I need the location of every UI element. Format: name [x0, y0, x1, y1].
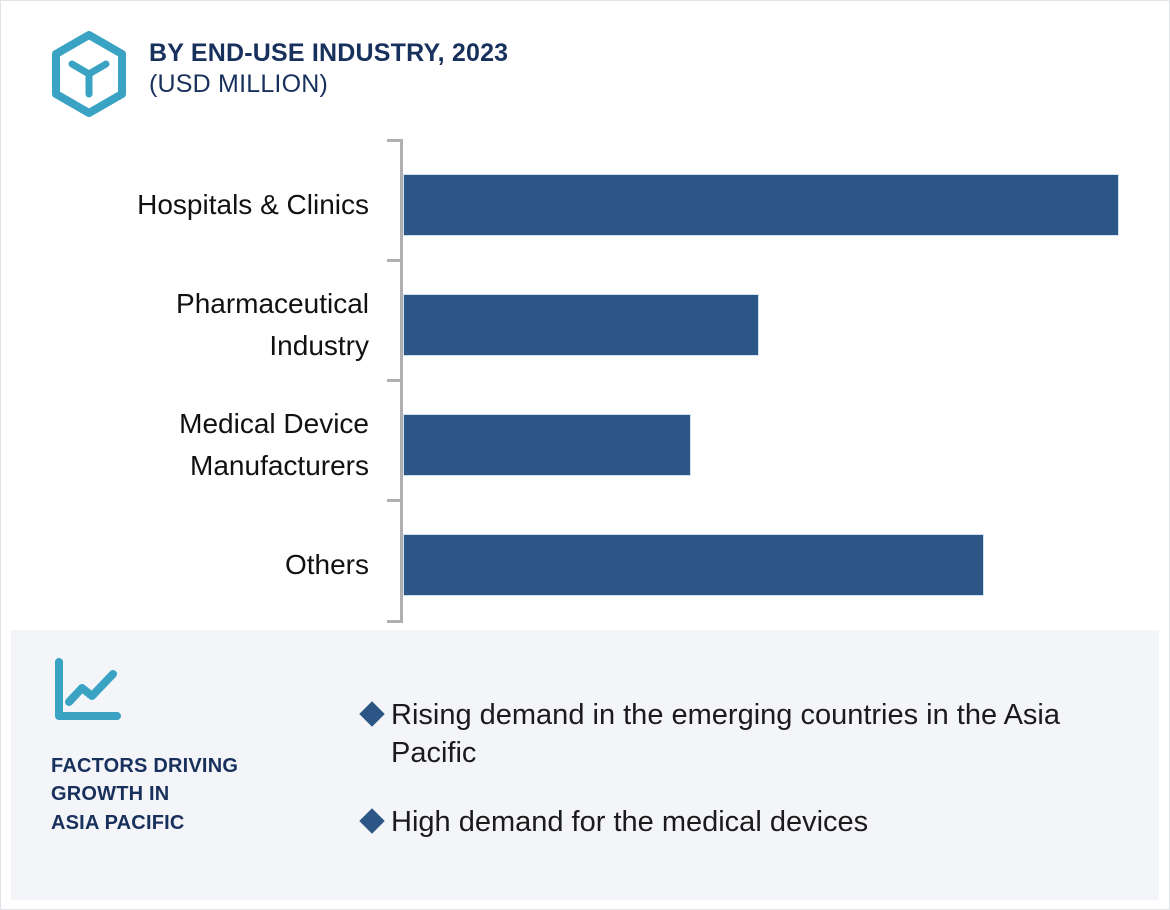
axis-tick: [387, 139, 401, 142]
diamond-bullet-icon: [359, 701, 384, 726]
category-label-line: Pharmaceutical: [176, 283, 369, 325]
page-subtitle: (USD MILLION): [149, 69, 508, 99]
axis-tick: [387, 259, 401, 262]
bar-chart: Hospitals & Clinics Pharmaceutical Indus…: [1, 139, 1170, 627]
page-title: BY END-USE INDUSTRY, 2023: [149, 39, 508, 67]
bar-fill: [403, 174, 1119, 236]
panel-heading-line: FACTORS DRIVING: [51, 752, 351, 780]
bar-fill: [403, 294, 759, 356]
category-label-line: Industry: [176, 325, 369, 367]
category-label-medical-device-manufacturers: Medical Device Manufacturers: [39, 402, 369, 488]
list-item: High demand for the medical devices: [363, 803, 1123, 841]
category-label-line: Manufacturers: [179, 445, 369, 487]
factors-panel: FACTORS DRIVING GROWTH IN ASIA PACIFIC R…: [11, 630, 1159, 900]
list-item: Rising demand in the emerging countries …: [363, 696, 1123, 773]
axis-tick: [387, 379, 401, 382]
panel-left-column: FACTORS DRIVING GROWTH IN ASIA PACIFIC: [51, 658, 351, 837]
line-chart-growth-icon: [51, 658, 351, 724]
panel-heading: FACTORS DRIVING GROWTH IN ASIA PACIFIC: [51, 752, 351, 837]
bar-others[interactable]: [403, 534, 984, 596]
title-block: BY END-USE INDUSTRY, 2023 (USD MILLION): [149, 29, 508, 99]
bar-pharmaceutical-industry[interactable]: [403, 294, 759, 356]
bar-medical-device-manufacturers[interactable]: [403, 414, 691, 476]
category-label-line: Others: [285, 544, 369, 586]
category-label-others: Others: [39, 534, 369, 596]
category-label-pharmaceutical-industry: Pharmaceutical Industry: [39, 282, 369, 368]
bar-hospitals-clinics[interactable]: [403, 174, 1119, 236]
infographic-card: BY END-USE INDUSTRY, 2023 (USD MILLION) …: [0, 0, 1170, 910]
diamond-bullet-icon: [359, 808, 384, 833]
bar-fill: [403, 534, 984, 596]
category-label-hospitals-clinics: Hospitals & Clinics: [39, 174, 369, 236]
panel-heading-line: ASIA PACIFIC: [51, 809, 351, 837]
category-label-line: Medical Device: [179, 403, 369, 445]
category-label-line: Hospitals & Clinics: [137, 184, 369, 226]
list-item-text: High demand for the medical devices: [391, 803, 868, 841]
header: BY END-USE INDUSTRY, 2023 (USD MILLION): [49, 29, 508, 117]
bar-fill: [403, 414, 691, 476]
panel-heading-line: GROWTH IN: [51, 780, 351, 808]
axis-tick: [387, 620, 401, 623]
hexagon-y-logo-icon: [49, 31, 129, 117]
list-item-text: Rising demand in the emerging countries …: [391, 696, 1091, 773]
axis-tick: [387, 499, 401, 502]
factors-list: Rising demand in the emerging countries …: [363, 696, 1123, 841]
